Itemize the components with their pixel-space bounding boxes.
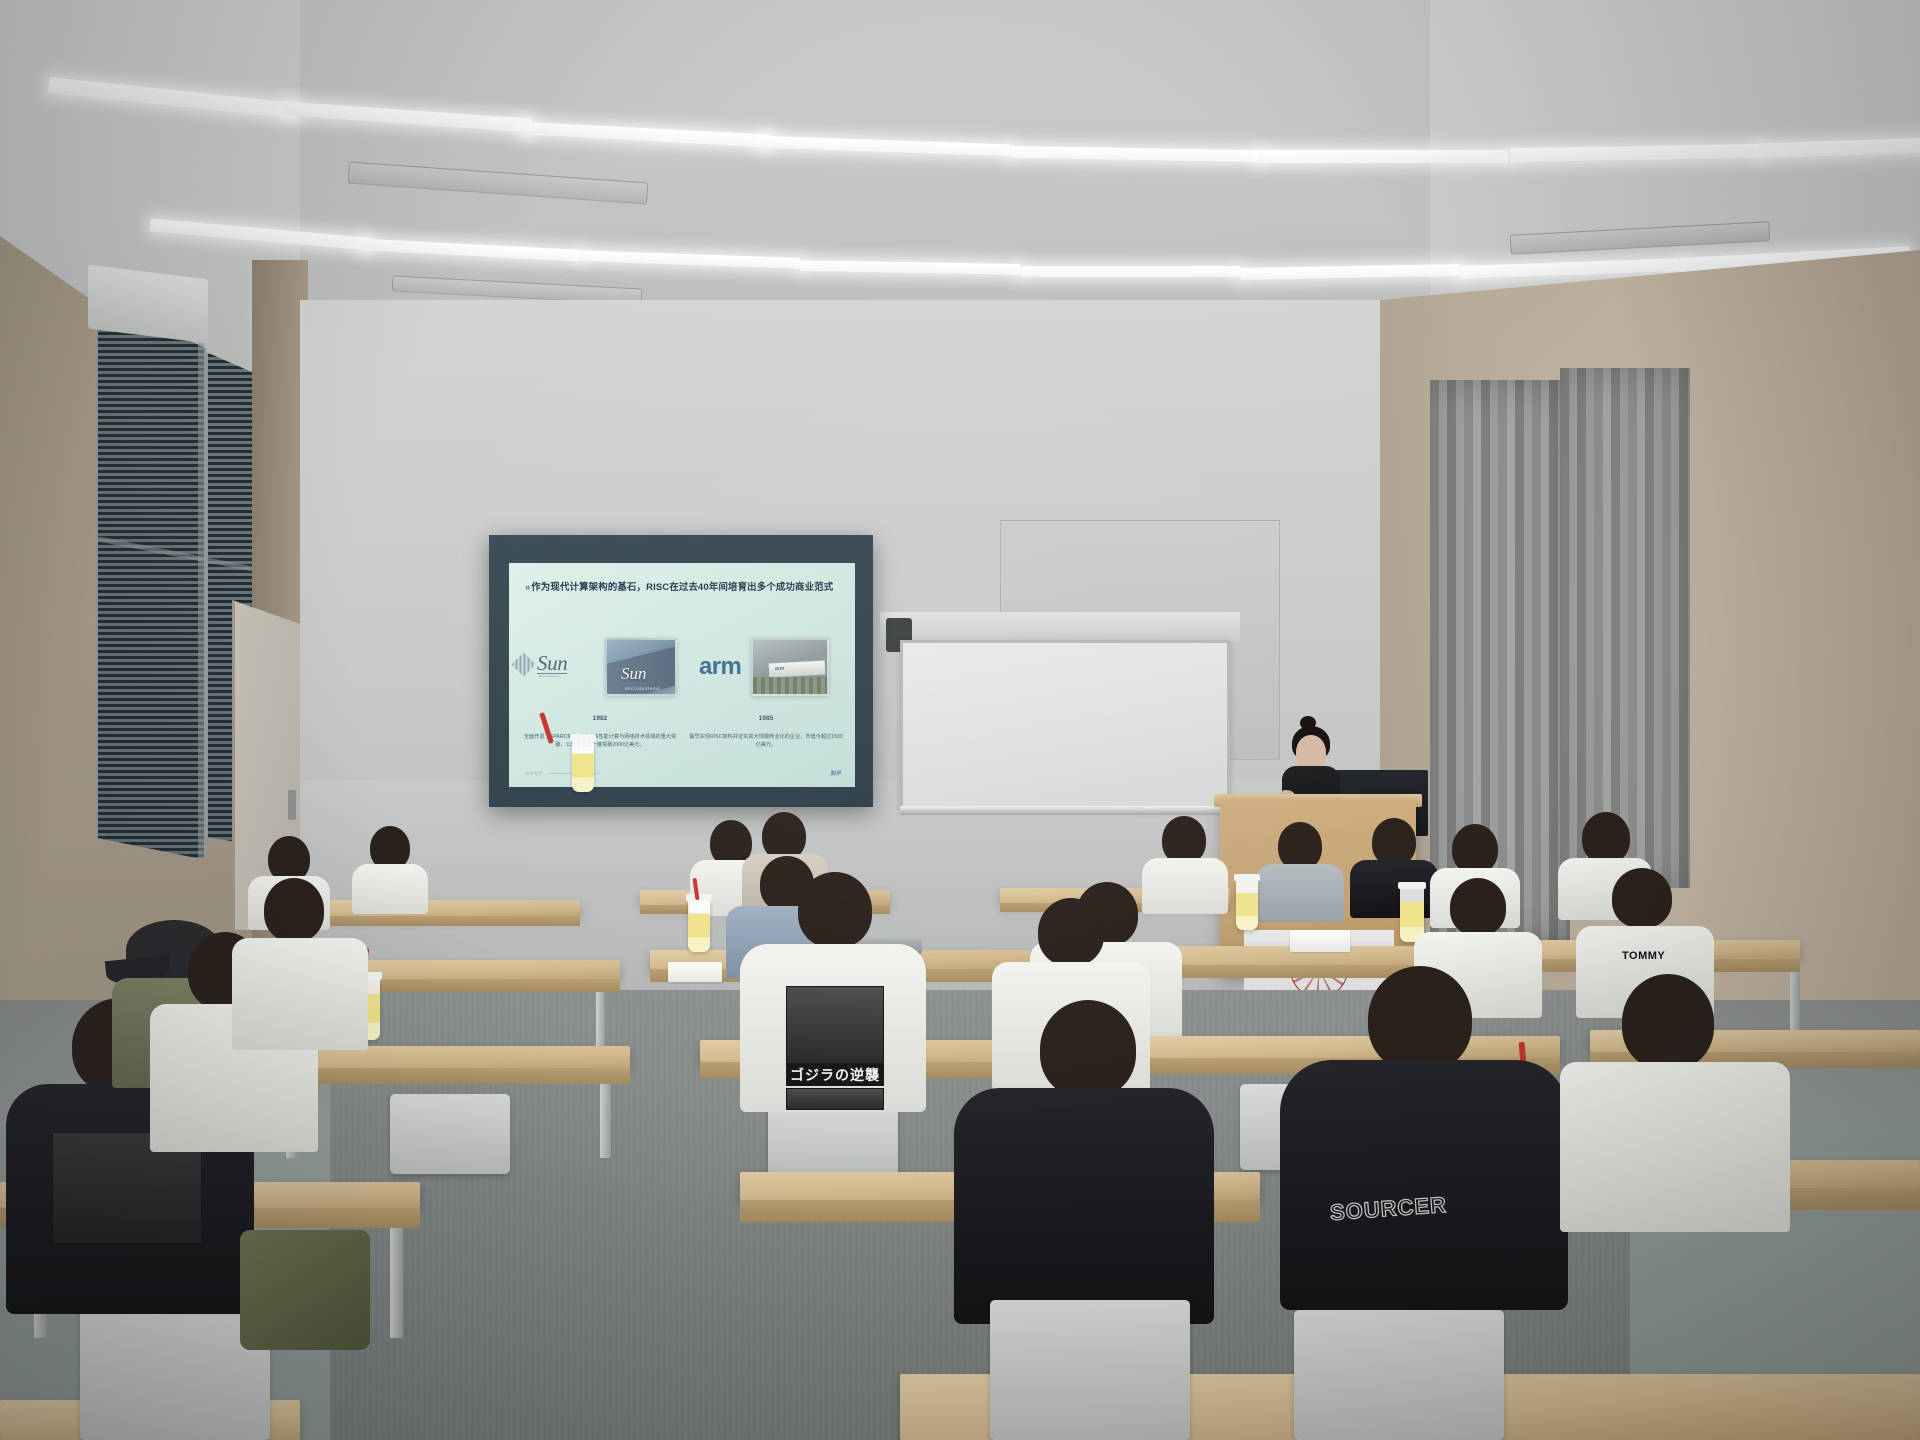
head [762, 812, 806, 860]
chair[interactable] [390, 1094, 510, 1174]
slide-footer-logo: 知乎 [830, 769, 841, 777]
sun-tagline: microsystems [539, 675, 560, 678]
shirt-print-godzilla: ゴジラの逆襲 [790, 1065, 880, 1085]
whiteboard-header [880, 612, 1240, 642]
torso [232, 938, 368, 1050]
lecture-hall-photo: »作为现代计算架构的基石，RISC在过去40年间培育出多个成功商业范式 Sun … [0, 0, 1920, 1440]
shirt-print-tommy: TOMMY [1622, 950, 1665, 962]
desk-leg [600, 1084, 611, 1158]
door-handle-icon[interactable] [288, 790, 296, 820]
window-curtain[interactable] [1430, 380, 1570, 940]
ceiling-light [1258, 150, 1508, 163]
shirt-print-godzilla-band: ゴジラの逆襲 [786, 1064, 884, 1086]
head [798, 872, 872, 948]
torso [352, 864, 428, 914]
head [1582, 812, 1630, 864]
torso [1142, 858, 1228, 914]
chair[interactable] [990, 1300, 1190, 1440]
head [1038, 898, 1104, 966]
torso [1350, 860, 1438, 918]
bubble-tea-cup[interactable] [1236, 880, 1258, 930]
shirt-graphic-godzilla [786, 986, 884, 1064]
bubble-tea-cup[interactable] [572, 740, 594, 792]
sun-building-photo: Sun microsystems [605, 638, 677, 696]
handout-paper[interactable] [1290, 930, 1350, 952]
head [264, 878, 324, 942]
column-body-right: 最早实现RISC架构并证实其大规模商业化的企业，市值今超过1500亿美元。 [688, 733, 844, 749]
head [1612, 868, 1672, 928]
head [1278, 822, 1322, 870]
arm-signboard-text: arm [775, 666, 784, 672]
window-mullion [198, 300, 204, 860]
torso [1280, 1060, 1568, 1310]
ceiling-light [1020, 266, 1240, 277]
slide-logo-row: Sun microsystems Sun microsystems arm ar… [509, 637, 855, 703]
head [1622, 974, 1714, 1070]
cup-lid [570, 734, 596, 741]
projection-screen: »作为现代计算架构的基石，RISC在过去40年间培育出多个成功商业范式 Sun … [489, 535, 873, 807]
whiteboard-marker-rail [900, 806, 1230, 815]
column-year-right: 1985 [691, 715, 841, 722]
desk [1140, 1036, 1560, 1058]
backpack[interactable] [240, 1230, 370, 1350]
torso [1560, 1062, 1790, 1232]
window-blinds[interactable] [96, 300, 206, 860]
arm-photo-hedge [753, 677, 827, 694]
head [1040, 1000, 1136, 1098]
sun-building-wordmark: Sun [621, 664, 647, 684]
desk-front [330, 916, 580, 926]
cup-lid [1398, 882, 1426, 889]
cup-lid [1234, 874, 1260, 881]
head [1162, 816, 1206, 864]
head [1450, 878, 1506, 936]
sun-wordmark: Sun [537, 651, 567, 676]
desk-leg [596, 992, 605, 1048]
whiteboard [900, 640, 1230, 810]
arm-wordmark: arm [699, 653, 741, 681]
head [1372, 818, 1416, 866]
handout-paper[interactable] [668, 962, 722, 982]
sun-building-tagline: microsystems [625, 686, 660, 691]
arm-signboard: arm [769, 661, 826, 678]
bubble-tea-cup[interactable] [688, 900, 710, 952]
torso [954, 1088, 1214, 1324]
head [1452, 824, 1498, 874]
sun-logo-icon [511, 652, 535, 676]
head [1368, 966, 1472, 1072]
smoke-detector-icon [562, 270, 578, 278]
shirt-graphic-godzilla-lower [786, 1088, 884, 1110]
arm-building-photo: arm [751, 638, 829, 696]
column-year-left: 1982 [525, 715, 675, 722]
window-curtain[interactable] [1560, 368, 1690, 888]
torso [1256, 864, 1344, 922]
slide-title-text: 作为现代计算架构的基石，RISC在过去40年间培育出多个成功商业范式 [531, 581, 833, 592]
slide-title: »作为现代计算架构的基石，RISC在过去40年间培育出多个成功商业范式 [525, 579, 833, 593]
chair[interactable] [1294, 1310, 1504, 1440]
presentation-slide: »作为现代计算架构的基石，RISC在过去40年间培育出多个成功商业范式 Sun … [509, 563, 855, 787]
chevron-right-icon: » [525, 581, 528, 592]
desk-leg [390, 1228, 403, 1338]
